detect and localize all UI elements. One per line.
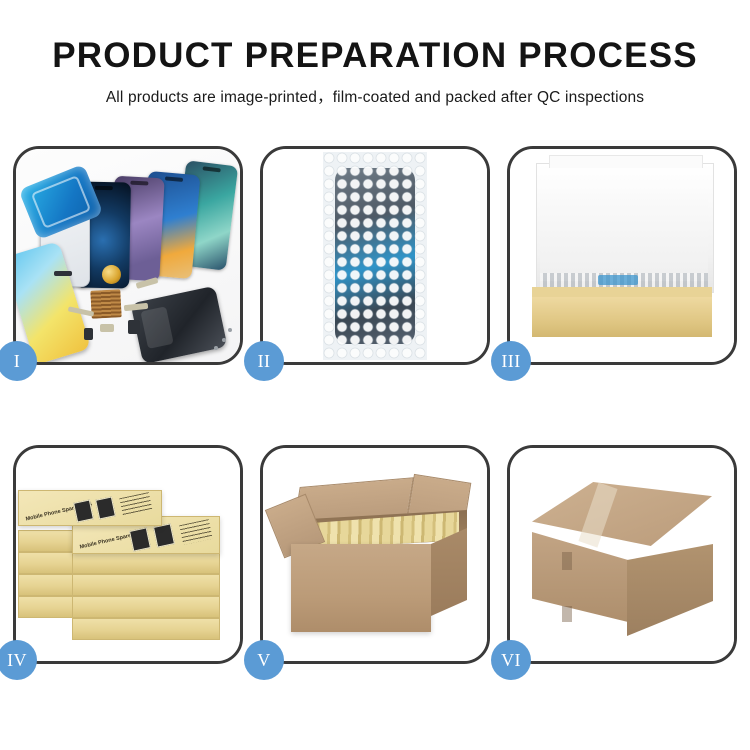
product-thumbnail-icon bbox=[95, 496, 116, 519]
carton-side-icon bbox=[627, 544, 713, 636]
product-thumbnail-icon bbox=[129, 527, 151, 551]
carton-front-icon bbox=[532, 532, 628, 622]
header: PRODUCT PREPARATION PROCESS All products… bbox=[0, 0, 750, 107]
spare-parts-box bbox=[72, 574, 220, 596]
carton-front-icon bbox=[291, 544, 431, 632]
screw-icon bbox=[214, 346, 218, 350]
step-badge-2: II bbox=[244, 341, 284, 381]
page-subtitle: All products are image-printed，film-coat… bbox=[0, 76, 750, 107]
inner-box-illustration bbox=[510, 149, 734, 362]
bubble-highlights-icon bbox=[323, 152, 427, 360]
box-stack-illustration: Mobile Phone Spare Parts Mobile Phone Sp… bbox=[16, 448, 240, 661]
spare-parts-box-top-back: Mobile Phone Spare Parts bbox=[18, 490, 162, 526]
chip-icon bbox=[54, 271, 72, 276]
process-step-3: III bbox=[507, 146, 737, 365]
carton-seam-icon bbox=[562, 606, 572, 622]
box-stack: Mobile Phone Spare Parts Mobile Phone Sp… bbox=[16, 448, 240, 661]
phone-back-housing-icon bbox=[130, 286, 227, 362]
step-badge-5: V bbox=[244, 640, 284, 680]
notch-icon bbox=[202, 166, 220, 172]
process-step-5: V bbox=[260, 445, 490, 664]
box-spec-lines bbox=[179, 519, 213, 545]
step-badge-6: VI bbox=[491, 640, 531, 680]
screw-icon bbox=[222, 338, 226, 342]
copper-coil-icon bbox=[102, 265, 121, 284]
notch-icon bbox=[165, 176, 183, 182]
bubble-wrap-illustration bbox=[263, 149, 487, 362]
process-step-2: II bbox=[260, 146, 490, 365]
step-badge-1: I bbox=[0, 341, 37, 381]
chip-icon bbox=[128, 320, 140, 334]
box-spec-lines bbox=[119, 492, 152, 517]
notch-icon bbox=[130, 181, 148, 186]
spare-parts-box bbox=[72, 618, 220, 640]
carton-seam-icon bbox=[562, 552, 572, 570]
product-preparation-infographic: PRODUCT PREPARATION PROCESS All products… bbox=[0, 0, 750, 750]
speaker-mesh-icon bbox=[90, 289, 121, 319]
notch-icon bbox=[95, 186, 113, 190]
open-carton-illustration bbox=[263, 448, 487, 661]
screw-icon bbox=[228, 328, 232, 332]
carton-top-icon bbox=[532, 482, 712, 546]
box-front-icon bbox=[532, 297, 712, 337]
step-badge-3: III bbox=[491, 341, 531, 381]
process-step-6: VI bbox=[507, 445, 737, 664]
step-badge-4: IV bbox=[0, 640, 37, 680]
box-lid-face: Mobile Phone Spare Parts bbox=[19, 491, 161, 525]
process-step-grid: I II III bbox=[13, 146, 737, 683]
flex-cable-icon bbox=[100, 324, 114, 332]
process-step-1: I bbox=[13, 146, 243, 365]
spare-parts-box bbox=[72, 596, 220, 618]
phone-parts-illustration bbox=[16, 149, 240, 362]
process-step-4: Mobile Phone Spare Parts Mobile Phone Sp… bbox=[13, 445, 243, 664]
product-thumbnail-icon bbox=[153, 523, 175, 547]
foam-padding-icon bbox=[540, 195, 708, 281]
sealed-carton-illustration bbox=[510, 448, 734, 661]
page-title: PRODUCT PREPARATION PROCESS bbox=[0, 0, 750, 76]
chip-icon bbox=[84, 328, 93, 340]
spare-parts-box bbox=[72, 552, 220, 574]
